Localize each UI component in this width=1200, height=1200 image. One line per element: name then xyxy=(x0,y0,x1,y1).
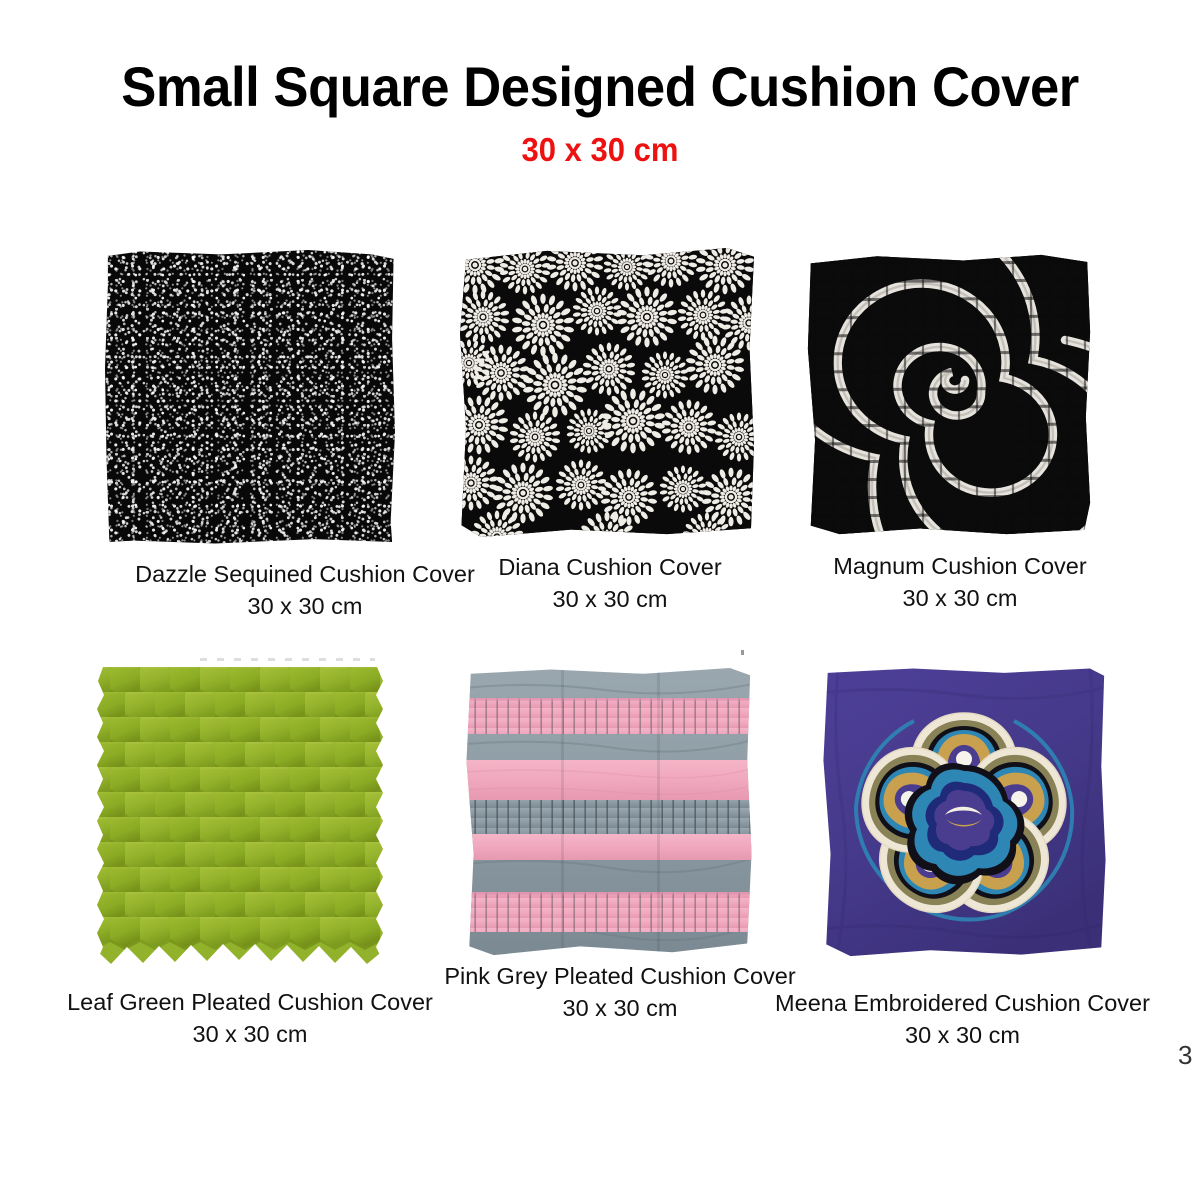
clipped-digit-artifact: 3 xyxy=(1178,1040,1200,1071)
product-name: Dazzle Sequined Cushion Cover xyxy=(135,561,475,587)
product-image-meena-embroidered[interactable] xyxy=(822,667,1107,959)
product-name: Meena Embroidered Cushion Cover xyxy=(775,990,1150,1016)
leaf-green-pleats xyxy=(95,667,385,972)
meena-flower xyxy=(822,667,1107,959)
product-caption-pink-grey-pleated: Pink Grey Pleated Cushion Cover 30 x 30 … xyxy=(425,960,815,1024)
magnum-spiral xyxy=(805,252,1093,537)
product-name: Diana Cushion Cover xyxy=(498,554,721,580)
product-card-diana[interactable]: Diana Cushion Cover 30 x 30 cm xyxy=(440,238,780,628)
product-caption-leaf-green-pleated: Leaf Green Pleated Cushion Cover 30 x 30… xyxy=(55,986,445,1050)
product-size: 30 x 30 cm xyxy=(55,1018,445,1050)
product-size: 30 x 30 cm xyxy=(425,992,815,1024)
product-size: 30 x 30 cm xyxy=(790,582,1130,614)
scan-artifact-speck xyxy=(741,650,744,655)
product-name: Magnum Cushion Cover xyxy=(833,553,1086,579)
diana-pattern xyxy=(457,245,757,540)
scan-artifact-dashes xyxy=(200,658,375,661)
product-image-dazzle-sequined[interactable] xyxy=(105,250,395,545)
product-size: 30 x 30 cm xyxy=(440,583,780,615)
product-image-leaf-green-pleated[interactable] xyxy=(95,667,385,972)
product-caption-diana: Diana Cushion Cover 30 x 30 cm xyxy=(440,551,780,615)
product-card-magnum[interactable]: Magnum Cushion Cover 30 x 30 cm xyxy=(790,245,1130,635)
product-image-pink-grey-pleated[interactable] xyxy=(465,668,753,958)
product-card-meena-embroidered[interactable]: Meena Embroidered Cushion Cover 30 x 30 … xyxy=(765,650,1160,1060)
page-subtitle: 30 x 30 cm xyxy=(36,115,1164,169)
product-name: Leaf Green Pleated Cushion Cover xyxy=(67,989,433,1015)
product-image-magnum[interactable] xyxy=(805,252,1093,537)
page-header: Small Square Designed Cushion Cover 30 x… xyxy=(0,0,1200,169)
product-card-leaf-green-pleated[interactable]: Leaf Green Pleated Cushion Cover 30 x 30… xyxy=(55,655,445,1055)
product-image-diana[interactable] xyxy=(457,245,757,540)
product-name: Pink Grey Pleated Cushion Cover xyxy=(444,963,795,989)
product-card-pink-grey-pleated[interactable]: Pink Grey Pleated Cushion Cover 30 x 30 … xyxy=(425,650,815,1050)
product-caption-meena-embroidered: Meena Embroidered Cushion Cover 30 x 30 … xyxy=(765,987,1160,1051)
product-size: 30 x 30 cm xyxy=(765,1019,1160,1051)
pink-grey-pleats xyxy=(465,668,753,958)
product-caption-magnum: Magnum Cushion Cover 30 x 30 cm xyxy=(790,550,1130,614)
page-title: Small Square Designed Cushion Cover xyxy=(36,0,1164,115)
